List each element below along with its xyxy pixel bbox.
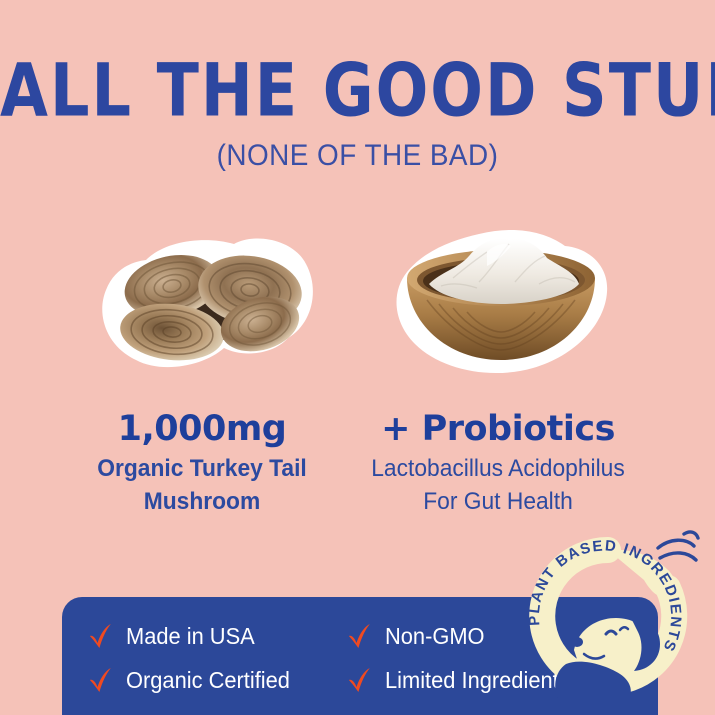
infographic-canvas: ALL THE GOOD STUFF (NONE OF THE BAD) xyxy=(0,0,715,715)
feature-line-1: Lactobacillus Acidophilus xyxy=(356,454,641,483)
claim-label: Made in USA xyxy=(126,623,255,649)
page-subtitle: (NONE OF THE BAD) xyxy=(25,138,690,174)
tail-motion-icon xyxy=(658,532,698,560)
probiotic-powder-bowl-photo xyxy=(383,226,617,384)
check-icon xyxy=(88,623,113,649)
claim-item: Organic Certified xyxy=(88,667,290,693)
feature-line-2: Mushroom xyxy=(60,487,345,516)
feature-heading: 1,000mg xyxy=(52,408,352,450)
feature-line-1: Organic Turkey Tail xyxy=(60,454,345,483)
feature-line-2: For Gut Health xyxy=(356,487,641,516)
turkey-tail-mushroom-photo xyxy=(88,228,320,388)
check-icon xyxy=(347,623,372,649)
check-icon xyxy=(88,667,113,693)
claim-item: Non-GMO xyxy=(347,623,485,649)
claim-item: Made in USA xyxy=(88,623,255,649)
page-title: ALL THE GOOD STUFF xyxy=(0,46,715,136)
feature-heading: + Probiotics xyxy=(348,408,648,450)
check-icon xyxy=(347,667,372,693)
claim-label: Organic Certified xyxy=(126,667,290,693)
feature-column-probiotics: + Probiotics Lactobacillus Acidophilus F… xyxy=(348,408,648,516)
feature-column-mushroom: 1,000mg Organic Turkey Tail Mushroom xyxy=(52,408,352,516)
claim-label: Non-GMO xyxy=(385,623,485,649)
plant-based-ingredients-badge: PLANT BASED INGREDIENTS xyxy=(508,518,708,714)
